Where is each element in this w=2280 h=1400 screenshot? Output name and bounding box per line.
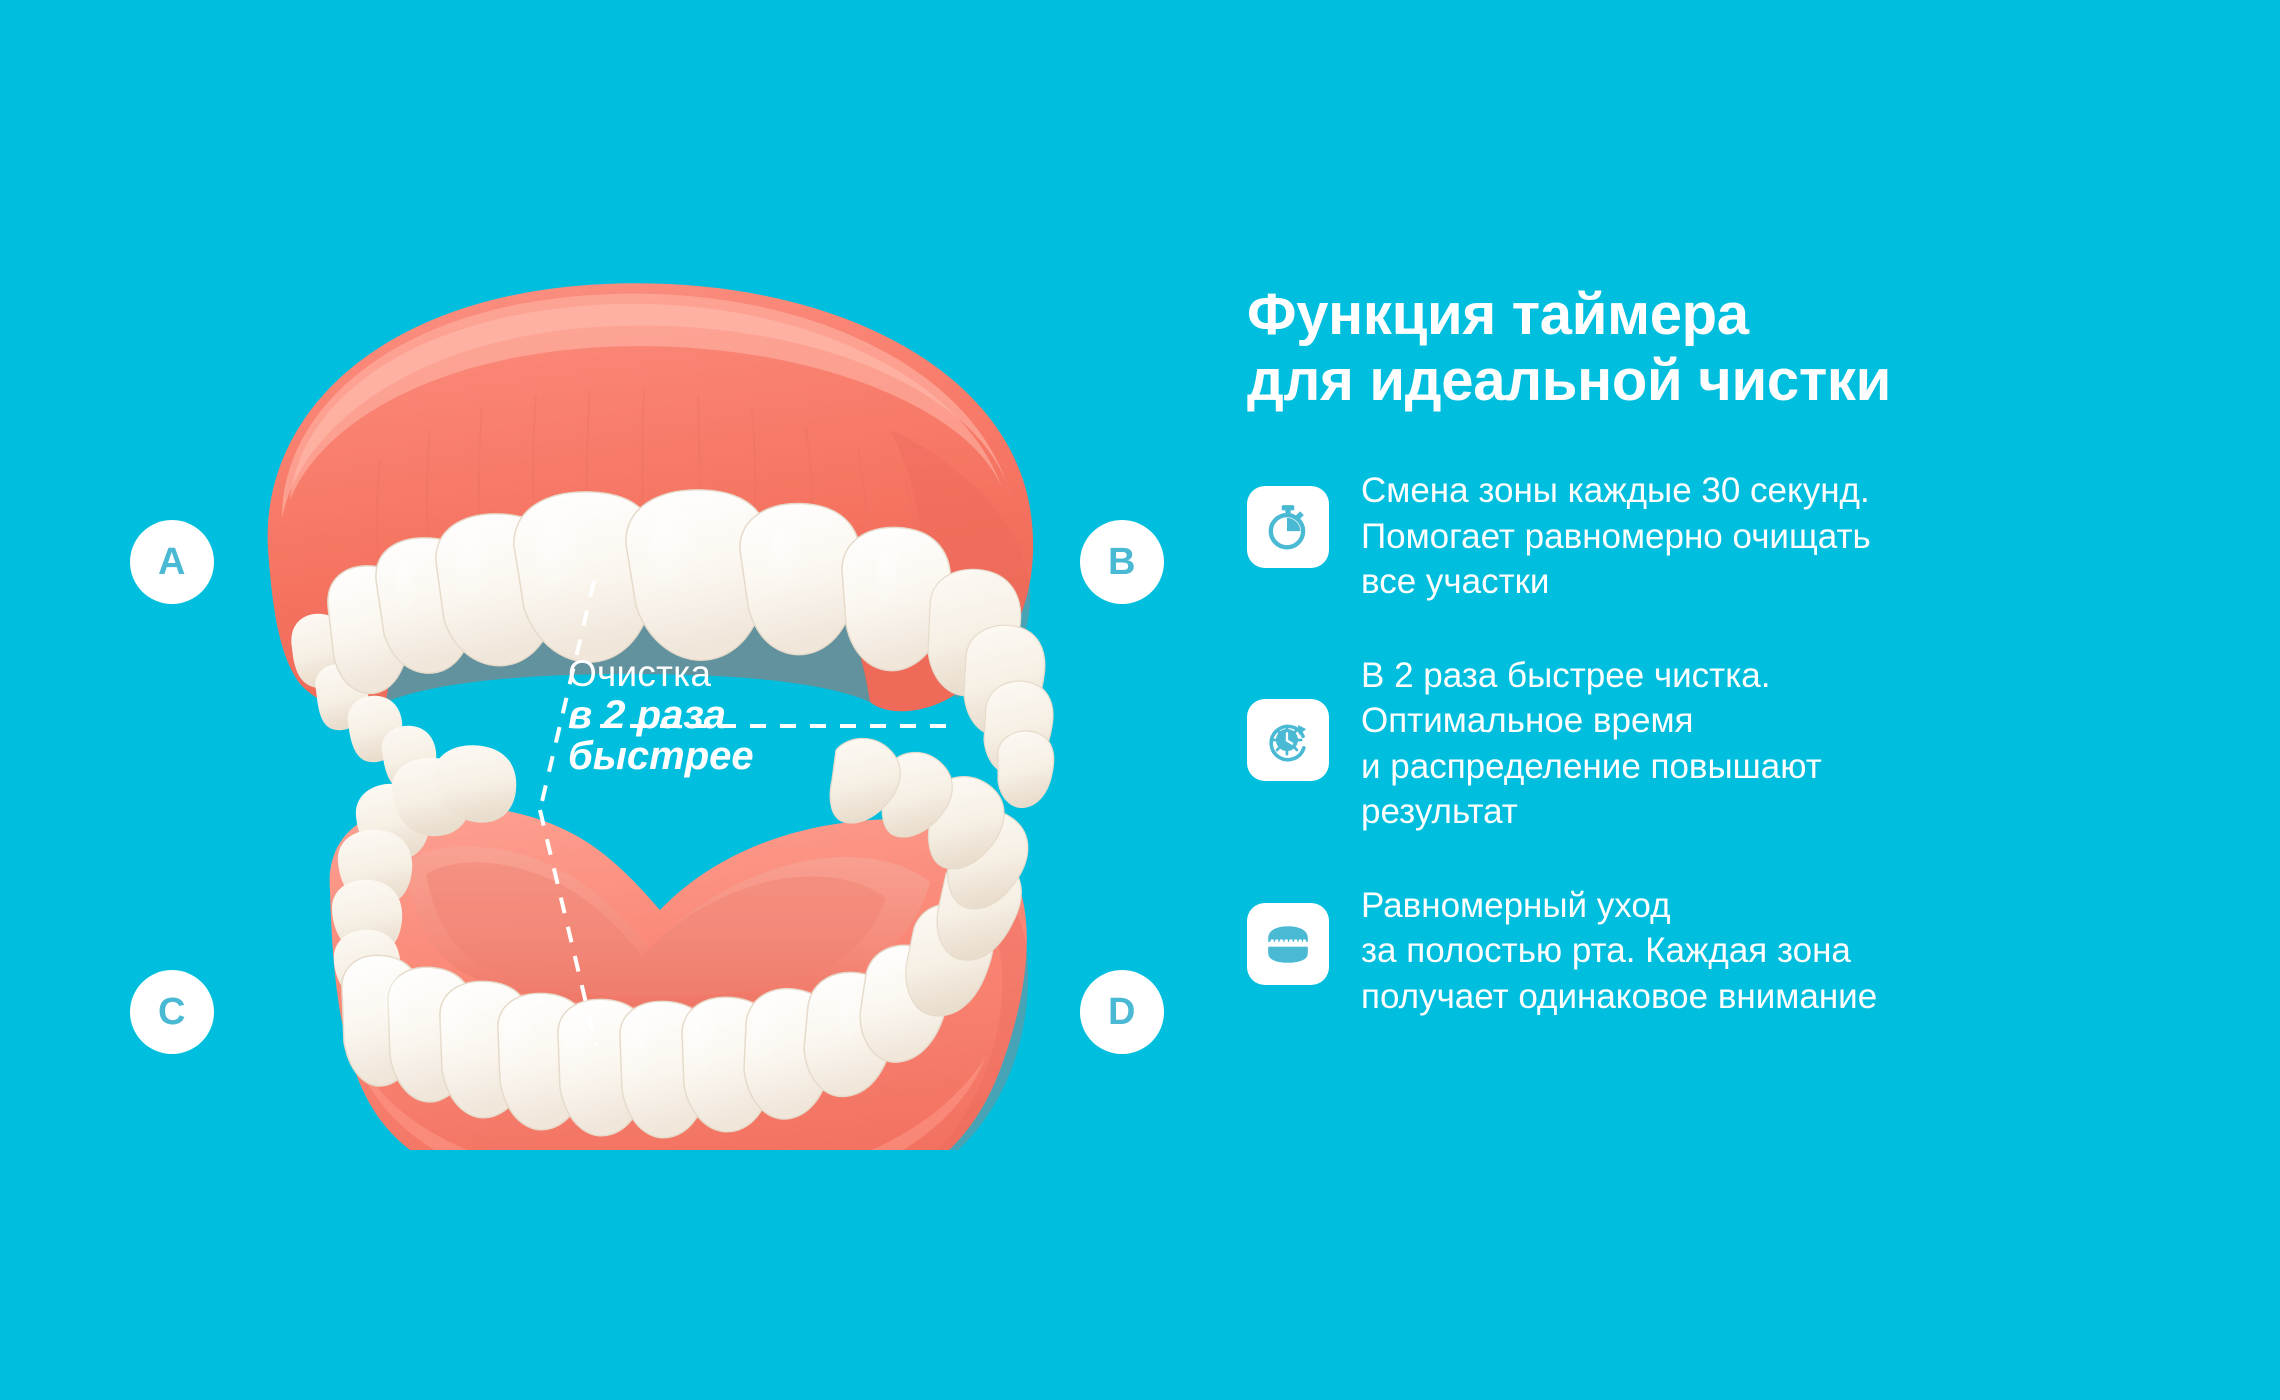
feature-1-text: Смена зоны каждые 30 секунд. Помогает ра… (1361, 466, 1871, 605)
content-column: Функция таймера для идеальной чистки Сме… (1247, 282, 2247, 1019)
annotation-line-1: Очистка (568, 655, 898, 693)
page-title-line-2: для идеальной чистки (1247, 348, 2247, 414)
stopwatch-icon (1263, 502, 1313, 552)
badge-a-label: A (158, 541, 186, 584)
feature-item-1: Смена зоны каждые 30 секунд. Помогает ра… (1247, 466, 2247, 605)
annotation-line-3: быстрее (568, 736, 898, 777)
feature-1-line-1: Смена зоны каждые 30 секунд. (1361, 468, 1871, 514)
clock-refresh-icon (1263, 715, 1313, 765)
badge-b[interactable]: B (1080, 520, 1164, 604)
clock-refresh-icon-container (1247, 699, 1329, 781)
badge-c[interactable]: C (130, 970, 214, 1054)
feature-3-line-1: Равномерный уход (1361, 883, 1877, 929)
dentures-icon (1263, 919, 1313, 969)
feature-2-line-1: В 2 раза быстрее чистка. (1361, 653, 1822, 699)
center-annotation: Очистка в 2 раза быстрее (568, 655, 898, 776)
feature-3-text: Равномерный уход за полостью рта. Каждая… (1361, 881, 1877, 1020)
feature-2-text: В 2 раза быстрее чистка. Оптимальное вре… (1361, 651, 1822, 835)
page-title: Функция таймера для идеальной чистки (1247, 282, 2247, 414)
feature-1-line-3: все участки (1361, 559, 1871, 605)
badge-a[interactable]: A (130, 520, 214, 604)
feature-item-2: В 2 раза быстрее чистка. Оптимальное вре… (1247, 651, 2247, 835)
feature-3-line-3: получает одинаковое внимание (1361, 974, 1877, 1020)
feature-3-line-2: за полостью рта. Каждая зона (1361, 928, 1877, 974)
feature-1-line-2: Помогает равномерно очищать (1361, 514, 1871, 560)
badge-d[interactable]: D (1080, 970, 1164, 1054)
stopwatch-icon-container (1247, 486, 1329, 568)
feature-2-line-2: Оптимальное время (1361, 698, 1822, 744)
page-title-line-1: Функция таймера (1247, 282, 2247, 348)
badge-b-label: B (1108, 541, 1136, 584)
feature-2-line-4: результат (1361, 789, 1822, 835)
feature-item-3: Равномерный уход за полостью рта. Каждая… (1247, 881, 2247, 1020)
feature-2-line-3: и распределение повышают (1361, 744, 1822, 790)
lower-denture (330, 738, 1029, 1150)
badge-d-label: D (1108, 991, 1136, 1034)
infographic-canvas: Очистка в 2 раза быстрее A B C D Функция… (0, 0, 2280, 1400)
badge-c-label: C (158, 991, 186, 1034)
annotation-line-2: в 2 раза (568, 695, 898, 736)
dentures-icon-container (1247, 903, 1329, 985)
